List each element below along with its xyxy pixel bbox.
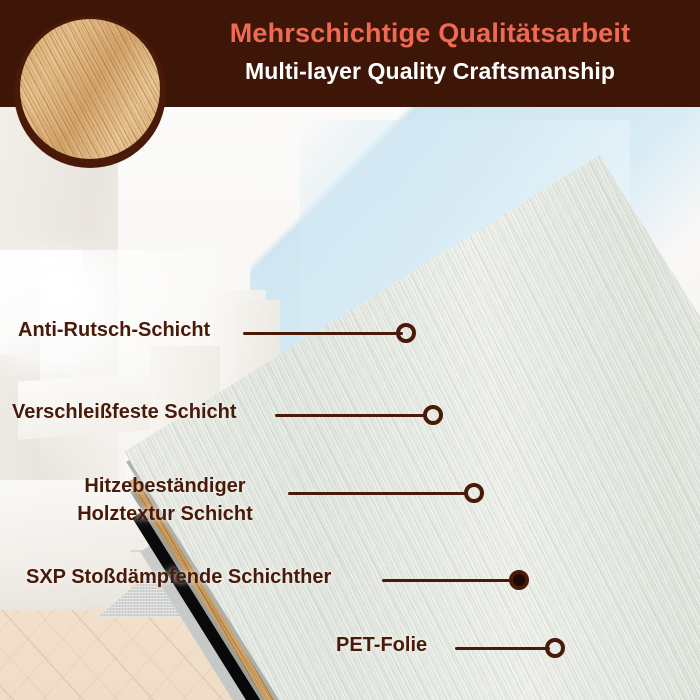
- page-title: Mehrschichtige Qualitätsarbeit: [170, 18, 690, 49]
- callout-leader-line: [382, 579, 514, 582]
- callout-label-anti-slip: Anti-Rutsch-Schicht: [18, 319, 210, 342]
- callout-marker-dot: [545, 638, 565, 658]
- page-subtitle: Multi-layer Quality Craftsmanship: [170, 58, 690, 85]
- callout-leader-line: [288, 492, 468, 495]
- callout-marker-dot: [396, 323, 416, 343]
- wood-disc-badge: [14, 16, 166, 168]
- callout-leader-line: [275, 414, 427, 417]
- callout-marker-dot: [423, 405, 443, 425]
- callout-label-wood-texture: Hitzebeständiger Holztextur Schicht: [55, 472, 275, 529]
- callout-leader-line: [455, 647, 550, 650]
- callout-label-wear-resistant: Verschleißfeste Schicht: [12, 401, 237, 424]
- infographic-stage: Mehrschichtige Qualitätsarbeit Multi-lay…: [0, 0, 700, 700]
- panel-stack: [0, 95, 700, 700]
- callout-marker-dot: [509, 570, 529, 590]
- wood-disc-icon: [20, 19, 160, 159]
- callout-leader-line: [243, 332, 403, 335]
- callout-marker-dot: [464, 483, 484, 503]
- callout-label-pet: PET-Folie: [336, 634, 427, 657]
- callout-label-wood-texture-line2: Holztextur Schicht: [77, 503, 253, 525]
- callout-label-sxp: SXP Stoßdämpfende Schichther: [26, 566, 331, 589]
- callout-label-wood-texture-line1: Hitzebeständiger: [84, 475, 245, 497]
